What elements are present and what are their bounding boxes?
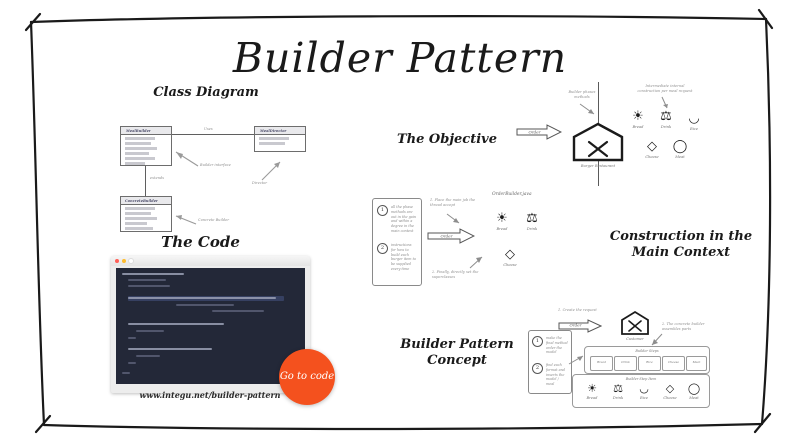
cell-label: Drink (615, 361, 636, 364)
construction-header-note: OrderBuilder.java (492, 192, 532, 197)
label-class-diagram: Class Diagram (146, 85, 266, 101)
food-item-bread: ☀ Bread (490, 212, 514, 231)
bottle-icon: ⚖ (654, 110, 678, 123)
step-number: 2 (532, 363, 543, 374)
bread-icon: ☀ (626, 110, 650, 123)
food-item-cheese: ◇ Cheese (659, 383, 681, 400)
cell-label: Bread (591, 361, 612, 364)
food-item-meat: ◯ Meat (668, 140, 692, 159)
food-label: Bread (581, 396, 603, 400)
step-text: instructions for how to build each burge… (391, 243, 417, 272)
restaurant-label: Burger Restaurant (560, 164, 636, 168)
builder-step-cell: Bread (590, 356, 613, 371)
steps-panel: 1 make the final method order the model … (528, 330, 572, 394)
code-content[interactable] (116, 268, 305, 384)
maximize-icon[interactable] (128, 258, 134, 264)
builder-items-panel: Builder Step Item ☀ Bread ⚖ Drink ◡ Rice… (572, 374, 710, 408)
order-arrow-label: Order (427, 234, 466, 239)
food-label: Drink (520, 227, 544, 231)
food-item-cheese: ◇ Cheese (498, 248, 522, 267)
order-arrow: Order (516, 124, 562, 140)
food-label: Drink (607, 396, 629, 400)
construction-note-1: 1. Place the main job the thread accept (430, 198, 482, 207)
annotation-concrete-builder: Concrete Builder (198, 218, 244, 223)
annotation-builder-interface: Builder interface (200, 163, 246, 168)
step-text: all the phase methods are out in the gai… (391, 205, 417, 234)
note-arrow-1 (444, 212, 464, 226)
connector-arrow (568, 352, 586, 368)
food-label: Cheese (640, 155, 664, 159)
meat-icon: ◯ (683, 383, 705, 394)
food-item-meat: ◯ Meat (683, 383, 705, 400)
goto-code-label: Go to code (280, 371, 334, 383)
builder-step-cell: Rice (638, 356, 661, 371)
objective-diagram: Order Builder phases methods Burger Rest… (516, 82, 716, 186)
step-1: 1 all the phase methods are out in the g… (377, 205, 417, 234)
bread-icon: ☀ (490, 212, 514, 225)
concept-note-right: 2. The concrete builder assembles parts (662, 322, 710, 331)
builder-steps-panel: Builder Steps Bread Drink Rice Cheese Me… (584, 346, 710, 374)
label-objective: The Objective (388, 132, 506, 148)
label-construction: Construction in the Main Context (598, 229, 764, 262)
food-label: Cheese (498, 263, 522, 267)
window-titlebar[interactable] (111, 256, 310, 266)
step-1: 1 make the final method order the model (532, 336, 568, 355)
cheese-icon: ◇ (498, 248, 522, 261)
note-arrow-2 (468, 254, 486, 270)
rice-icon: ◡ (682, 112, 706, 125)
order-arrow-label: Order (558, 323, 593, 328)
food-item-drink: ⚖ Drink (520, 212, 544, 231)
meat-icon: ◯ (668, 140, 692, 153)
restaurant-icon (620, 310, 650, 336)
construction-diagram: 1 all the phase methods are out in the g… (372, 192, 547, 288)
restaurant-icon (572, 122, 624, 162)
food-label: Rice (682, 127, 706, 131)
class-diagram: MealBuilder MealDirector ConcreteBuilder… (112, 118, 327, 236)
infographic-canvas: Builder Pattern Class Diagram MealBuilde… (0, 0, 800, 448)
builder-step-cell: Meat (686, 356, 707, 371)
concept-diagram: 1. Create the request Order Customer 2. … (528, 308, 714, 406)
label-concept: Builder Pattern Concept (384, 337, 530, 370)
source-url[interactable]: www.integu.net/builder-pattern (110, 390, 310, 400)
cheese-icon: ◇ (640, 140, 664, 153)
builder-steps-header: Builder Steps (585, 349, 709, 353)
food-item-drink: ⚖ Drink (607, 383, 629, 400)
construction-note-2: 2. Finally, directly set the superclasse… (432, 270, 488, 279)
order-arrow-label: Order (516, 130, 553, 135)
step-number: 1 (377, 205, 388, 216)
food-label: Cheese (659, 396, 681, 400)
food-item-bread: ☀ Bread (626, 110, 650, 129)
rice-icon: ◡ (633, 383, 655, 394)
cell-label: Rice (639, 361, 660, 364)
food-item-rice: ◡ Rice (633, 383, 655, 400)
note-internal-construction: Intermediate internal construction per m… (634, 84, 696, 93)
food-label: Meat (683, 396, 705, 400)
builder-items-header: Builder Step Item (573, 377, 709, 381)
bottle-icon: ⚖ (607, 383, 629, 394)
food-item-rice: ◡ Rice (682, 112, 706, 131)
cheese-icon: ◇ (659, 383, 681, 394)
food-label: Bread (490, 227, 514, 231)
steps-panel: 1 all the phase methods are out in the g… (372, 198, 422, 286)
concept-note-top: 1. Create the request (558, 308, 606, 313)
food-item-drink: ⚖ Drink (654, 110, 678, 129)
note-builder-phases: Builder phases methods (562, 90, 602, 99)
label-code: The Code (148, 233, 253, 252)
note-arrow-left (578, 102, 600, 118)
cell-label: Cheese (663, 361, 684, 364)
food-item-bread: ☀ Bread (581, 383, 603, 400)
step-2: 2 find each format and inserts the model… (532, 363, 568, 387)
page-title: Builder Pattern (0, 34, 800, 82)
builder-step-cell: Drink (614, 356, 637, 371)
cell-label: Meat (687, 361, 706, 364)
step-text: find each format and inserts the model /… (546, 363, 568, 387)
annotation-director: Director (252, 181, 292, 186)
food-label: Meat (668, 155, 692, 159)
food-label: Drink (654, 125, 678, 129)
step-text: make the final method order the model (546, 336, 568, 355)
food-item-cheese: ◇ Cheese (640, 140, 664, 159)
builder-step-cell: Cheese (662, 356, 685, 371)
order-arrow: Order (427, 228, 475, 244)
food-label: Rice (633, 396, 655, 400)
close-icon[interactable] (115, 259, 119, 263)
bottle-icon: ⚖ (520, 212, 544, 225)
minimize-icon[interactable] (122, 259, 126, 263)
food-label: Bread (626, 125, 650, 129)
step-2: 2 instructions for how to build each bur… (377, 243, 417, 272)
step-number: 1 (532, 336, 543, 347)
step-number: 2 (377, 243, 388, 254)
bread-icon: ☀ (581, 383, 603, 394)
